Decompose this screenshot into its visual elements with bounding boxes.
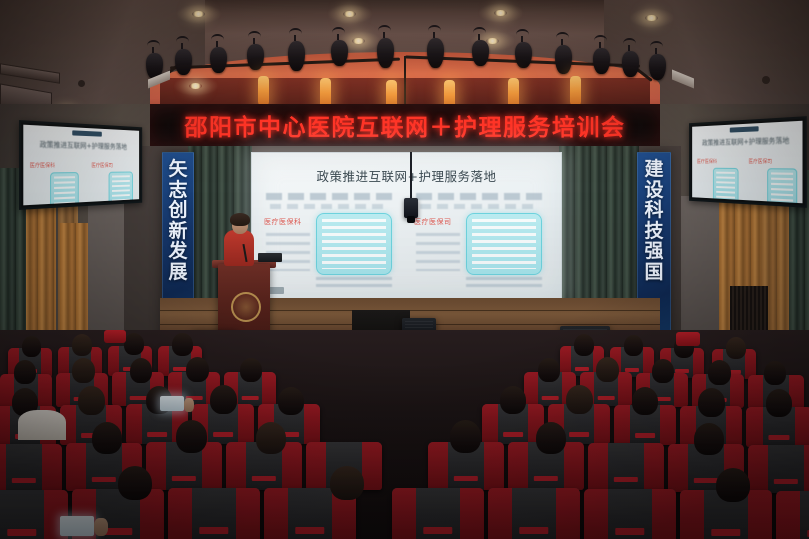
- seat: [748, 445, 809, 493]
- downlight: [189, 83, 202, 89]
- attendee-head: [78, 386, 105, 415]
- stage-light: [378, 25, 394, 68]
- attendee-torso: [18, 410, 66, 440]
- monitor-red-label: 医疗医保科: [697, 158, 717, 165]
- document-text-lines: [716, 172, 735, 200]
- downlight: [494, 10, 507, 16]
- slide-body-text: [416, 233, 460, 271]
- projection-screen: 政策推进互联网+护理服务落地 医疗医保科 医疗医保司: [251, 152, 562, 300]
- attendee-hand: [94, 518, 108, 536]
- banner-char: 创: [168, 200, 187, 221]
- banner-char: 技: [644, 221, 663, 242]
- attendee-head: [210, 385, 237, 414]
- stage-light: [428, 25, 444, 68]
- stage-light: [516, 29, 532, 68]
- slide-subtext-line: [266, 193, 398, 200]
- stage-light: [473, 27, 489, 66]
- stage-light: [289, 28, 305, 71]
- attendee-head: [256, 422, 286, 454]
- document-text-lines: [472, 219, 536, 269]
- right-side-monitor: 政策推进互联网+护理服务落地 医疗医保科 医疗医保司: [689, 116, 807, 208]
- podium-laptop: [258, 253, 282, 262]
- attendee-head: [500, 386, 526, 414]
- attendee-head: [124, 333, 144, 355]
- slide-document-card: [466, 213, 542, 275]
- right-monitor-title: 政策推进互联网+护理服务落地: [692, 135, 802, 148]
- stage-light: [176, 36, 192, 75]
- banner-char: 志: [168, 180, 187, 201]
- banner-char: 科: [644, 200, 663, 221]
- monitor-column-left: 医疗医保科: [23, 157, 86, 205]
- document-text-lines: [322, 219, 386, 269]
- banner-char: 发: [168, 241, 187, 262]
- attendee-head: [536, 422, 566, 454]
- attendee-head: [130, 358, 152, 383]
- slide-column-left: 医疗医保科: [258, 193, 406, 293]
- stage-light: [650, 41, 666, 80]
- banner-char: 国: [644, 262, 663, 283]
- camera-mount-stem: [410, 152, 412, 200]
- banner-char: 建: [644, 159, 663, 180]
- left-monitor-screen: 政策推进互联网+护理服务落地 医疗医保科 医疗医保司: [23, 125, 139, 206]
- stage-light: [332, 27, 348, 66]
- slide-subtext-line: [416, 193, 548, 200]
- downlight: [343, 11, 356, 17]
- podium-emblem: [231, 292, 261, 322]
- slide-card-caption: [466, 277, 542, 287]
- banner-char: 矢: [168, 159, 187, 180]
- attendee-head: [176, 420, 207, 453]
- attendee-phone-screen: [160, 396, 184, 411]
- slide-red-label: 医疗医保科: [264, 217, 302, 227]
- monitor-header-bar: [730, 126, 759, 132]
- stage-light: [211, 34, 227, 73]
- seat: [588, 443, 664, 491]
- camera-lens-icon: [407, 216, 415, 223]
- banner-char: 展: [168, 262, 187, 283]
- seat: [168, 488, 260, 539]
- slide-red-label: 医疗医保司: [414, 217, 452, 227]
- document-text-lines: [771, 172, 793, 202]
- downlight: [645, 15, 658, 21]
- led-banner: 邵阳市中心医院互联网＋护理服务培训会: [150, 104, 660, 146]
- attendee-head: [694, 423, 724, 455]
- monitor-column-left: 医疗医保科: [692, 154, 743, 203]
- led-banner-text: 邵阳市中心医院互联网＋护理服务培训会: [185, 108, 626, 142]
- attendee-head: [764, 361, 786, 385]
- slide-subtext-line: [420, 204, 534, 209]
- speaker-torso: [224, 230, 254, 266]
- attendee-hand: [184, 398, 194, 412]
- ceiling-camera: [404, 198, 418, 218]
- seat: [488, 488, 580, 539]
- slide-title: 政策推进互联网+护理服务落地: [252, 166, 561, 185]
- slide-column-right: 医疗医保司: [408, 193, 556, 293]
- monitor-red-label: 医疗医保司: [748, 158, 772, 165]
- ceiling-dome-camera: [78, 80, 85, 87]
- monitor-document-card: [767, 168, 797, 203]
- red-bag: [676, 332, 700, 346]
- attendee-head: [766, 389, 792, 417]
- attendee-head: [186, 357, 209, 382]
- seat: [0, 444, 62, 492]
- ceiling-dome-camera: [762, 76, 770, 84]
- attendee-head: [450, 420, 481, 453]
- monitor-document-card: [109, 172, 133, 206]
- left-monitor-title: 政策推进互联网+护理服务落地: [23, 139, 139, 152]
- wall-uplight: [258, 76, 269, 106]
- slide-card-caption: [316, 277, 392, 287]
- auditorium-photo: 邵阳市中心医院互联网＋护理服务培训会 政策推进互联网+护理服务落地 医疗医保科 …: [0, 0, 809, 539]
- seat: [0, 490, 68, 539]
- slide-document-card: [316, 213, 392, 275]
- attendee-head: [726, 337, 746, 359]
- document-text-lines: [54, 176, 75, 205]
- seat: [392, 488, 484, 539]
- attendee-head: [716, 468, 750, 502]
- attendee-head: [574, 334, 594, 356]
- monitor-document-card: [50, 172, 79, 205]
- banner-char: 强: [644, 241, 663, 262]
- seat: [584, 489, 676, 539]
- document-text-lines: [112, 175, 130, 202]
- monitor-red-label: 医疗医保司: [91, 162, 112, 169]
- speaker-hair: [230, 213, 250, 226]
- attendee-phone-screen: [60, 516, 94, 536]
- attendee-head: [624, 335, 643, 356]
- attendee-head: [698, 388, 725, 417]
- red-bag: [104, 330, 126, 343]
- downlight: [192, 11, 205, 17]
- attendee-head: [14, 360, 36, 384]
- seat: [776, 491, 809, 539]
- left-side-monitor: 政策推进互联网+护理服务落地 医疗医保科 医疗医保司: [19, 120, 142, 210]
- attendee-head: [92, 422, 122, 454]
- attendee-head: [72, 334, 92, 356]
- banner-char: 新: [168, 221, 187, 242]
- monitor-column-right: 医疗医保司: [743, 153, 803, 203]
- audience-seating: [0, 330, 809, 539]
- downlight: [352, 38, 365, 44]
- stage-masking-right: [559, 146, 639, 298]
- attendee-head: [596, 357, 619, 382]
- attendee-head: [172, 333, 193, 356]
- stage-light: [248, 31, 264, 70]
- attendee-head: [22, 336, 41, 357]
- wall-uplight: [570, 76, 581, 106]
- monitor-header-bar: [72, 130, 102, 136]
- monitor-document-card: [713, 168, 739, 204]
- attendee-head: [278, 387, 304, 415]
- attendee-head: [72, 358, 95, 383]
- attendee-head: [240, 358, 262, 382]
- right-monitor-screen: 政策推进互联网+护理服务落地 医疗医保科 医疗医保司: [692, 121, 802, 203]
- monitor-red-label: 医疗医保科: [30, 162, 55, 170]
- attendee-head: [566, 385, 593, 414]
- stage-light: [623, 38, 639, 77]
- attendee-head: [330, 466, 364, 500]
- monitor-column-right: 医疗医保司: [86, 158, 139, 205]
- slide-subtext-line: [270, 204, 384, 209]
- attendee-head: [632, 387, 658, 415]
- attendee-head: [538, 358, 560, 382]
- attendee-head: [708, 360, 731, 385]
- banner-char: 设: [644, 180, 663, 201]
- attendee-head: [118, 466, 152, 500]
- stage-light: [594, 35, 610, 74]
- stage-light: [556, 32, 572, 74]
- attendee-head: [652, 359, 674, 383]
